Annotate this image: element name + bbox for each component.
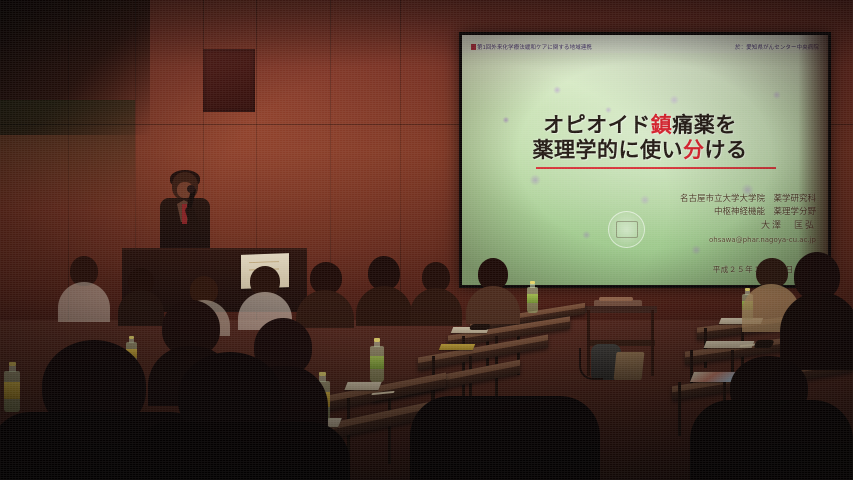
slide-header: 第1回外来化学療法緩和ケアに関する地域連携 於：愛知県がんセンター中央病院 bbox=[462, 40, 828, 54]
audience-member bbox=[296, 262, 354, 324]
audience-member bbox=[466, 258, 520, 320]
title-underline bbox=[536, 167, 776, 169]
bottle-label bbox=[370, 356, 384, 369]
audience-shoulders bbox=[130, 422, 350, 480]
handout-paper-yellow bbox=[439, 344, 475, 350]
slide-header-left-text: 第1回外来化学療法緩和ケアに関する地域連携 bbox=[477, 45, 592, 51]
audience-shoulders bbox=[466, 286, 520, 324]
presenter-name: 大澤 匡弘 bbox=[680, 219, 816, 234]
projection-screen: 第1回外来化学療法緩和ケアに関する地域連携 於：愛知県がんセンター中央病院 オピ… bbox=[459, 32, 831, 288]
audience-shoulders bbox=[58, 282, 110, 322]
audience-head bbox=[368, 256, 400, 290]
slide-title-line-2: 薬理学的に使い分ける bbox=[462, 138, 818, 163]
plastic-bottle bbox=[527, 281, 538, 315]
slide-title-line-1: オピオイド鎮痛薬を bbox=[462, 113, 818, 138]
audience-member-foreground bbox=[410, 396, 600, 480]
audience-member bbox=[786, 252, 853, 362]
lecture-hall-photo: 第1回外来化学療法緩和ケアに関する地域連携 於：愛知県がんセンター中央病院 オピ… bbox=[0, 0, 853, 480]
audience-member bbox=[58, 256, 110, 316]
header-marker-icon bbox=[471, 44, 476, 50]
bottle-label bbox=[527, 294, 538, 303]
power-cable bbox=[579, 348, 603, 380]
affiliation-line-1: 名古屋市立大学大学院 薬学研究科 bbox=[680, 193, 816, 206]
audience-shoulders bbox=[780, 292, 853, 370]
screen-edge-shadow bbox=[798, 35, 828, 285]
slide-presenter-block: 名古屋市立大学大学院 薬学研究科 中枢神経機能 薬理学分野 大澤 匡弘 ohsa… bbox=[680, 193, 816, 247]
audience-member bbox=[410, 262, 462, 322]
equipment-table-leg bbox=[651, 310, 654, 376]
screen-surface: 第1回外来化学療法緩和ケアに関する地域連携 於：愛知県がんセンター中央病院 オピ… bbox=[462, 35, 828, 285]
plastic-bottle bbox=[370, 338, 384, 384]
equipment-table bbox=[585, 300, 657, 378]
wall-dark-panel bbox=[203, 49, 255, 112]
title-part: 薬理学的に使い bbox=[533, 138, 684, 162]
title-highlight: 鎮 bbox=[651, 113, 673, 137]
title-part: ける bbox=[705, 138, 748, 162]
plastic-bottle bbox=[4, 362, 20, 414]
desk-item bbox=[469, 324, 491, 330]
slide-header-left: 第1回外来化学療法緩和ケアに関する地域連携 bbox=[471, 43, 592, 51]
paper-bag bbox=[614, 352, 645, 380]
slide-title: オピオイド鎮痛薬を 薬理学的に使い分ける bbox=[462, 113, 828, 163]
audience-member bbox=[238, 266, 292, 326]
audience-shoulders bbox=[410, 288, 462, 326]
title-highlight: 分 bbox=[683, 138, 705, 162]
audience-shoulders bbox=[356, 286, 412, 326]
projector-top-detail bbox=[599, 297, 633, 301]
bottle-label bbox=[4, 382, 20, 399]
audience-member-foreground bbox=[690, 380, 853, 480]
audience-member-foreground bbox=[150, 352, 310, 480]
audience-shoulders bbox=[690, 400, 853, 480]
audience-shoulders bbox=[410, 396, 600, 480]
presenter-email: ohsawa@phar.nagoya-cu.ac.jp bbox=[680, 234, 816, 247]
affiliation-line-2: 中枢神経機能 薬理学分野 bbox=[680, 206, 816, 219]
title-part: 痛薬を bbox=[672, 113, 737, 137]
title-part: オピオイド bbox=[543, 113, 651, 137]
university-seal-icon bbox=[608, 211, 645, 248]
seal-inner-mark bbox=[616, 221, 638, 238]
equipment-table-top bbox=[585, 306, 657, 313]
microphone-head-icon bbox=[187, 185, 195, 193]
audience-member bbox=[356, 256, 412, 322]
